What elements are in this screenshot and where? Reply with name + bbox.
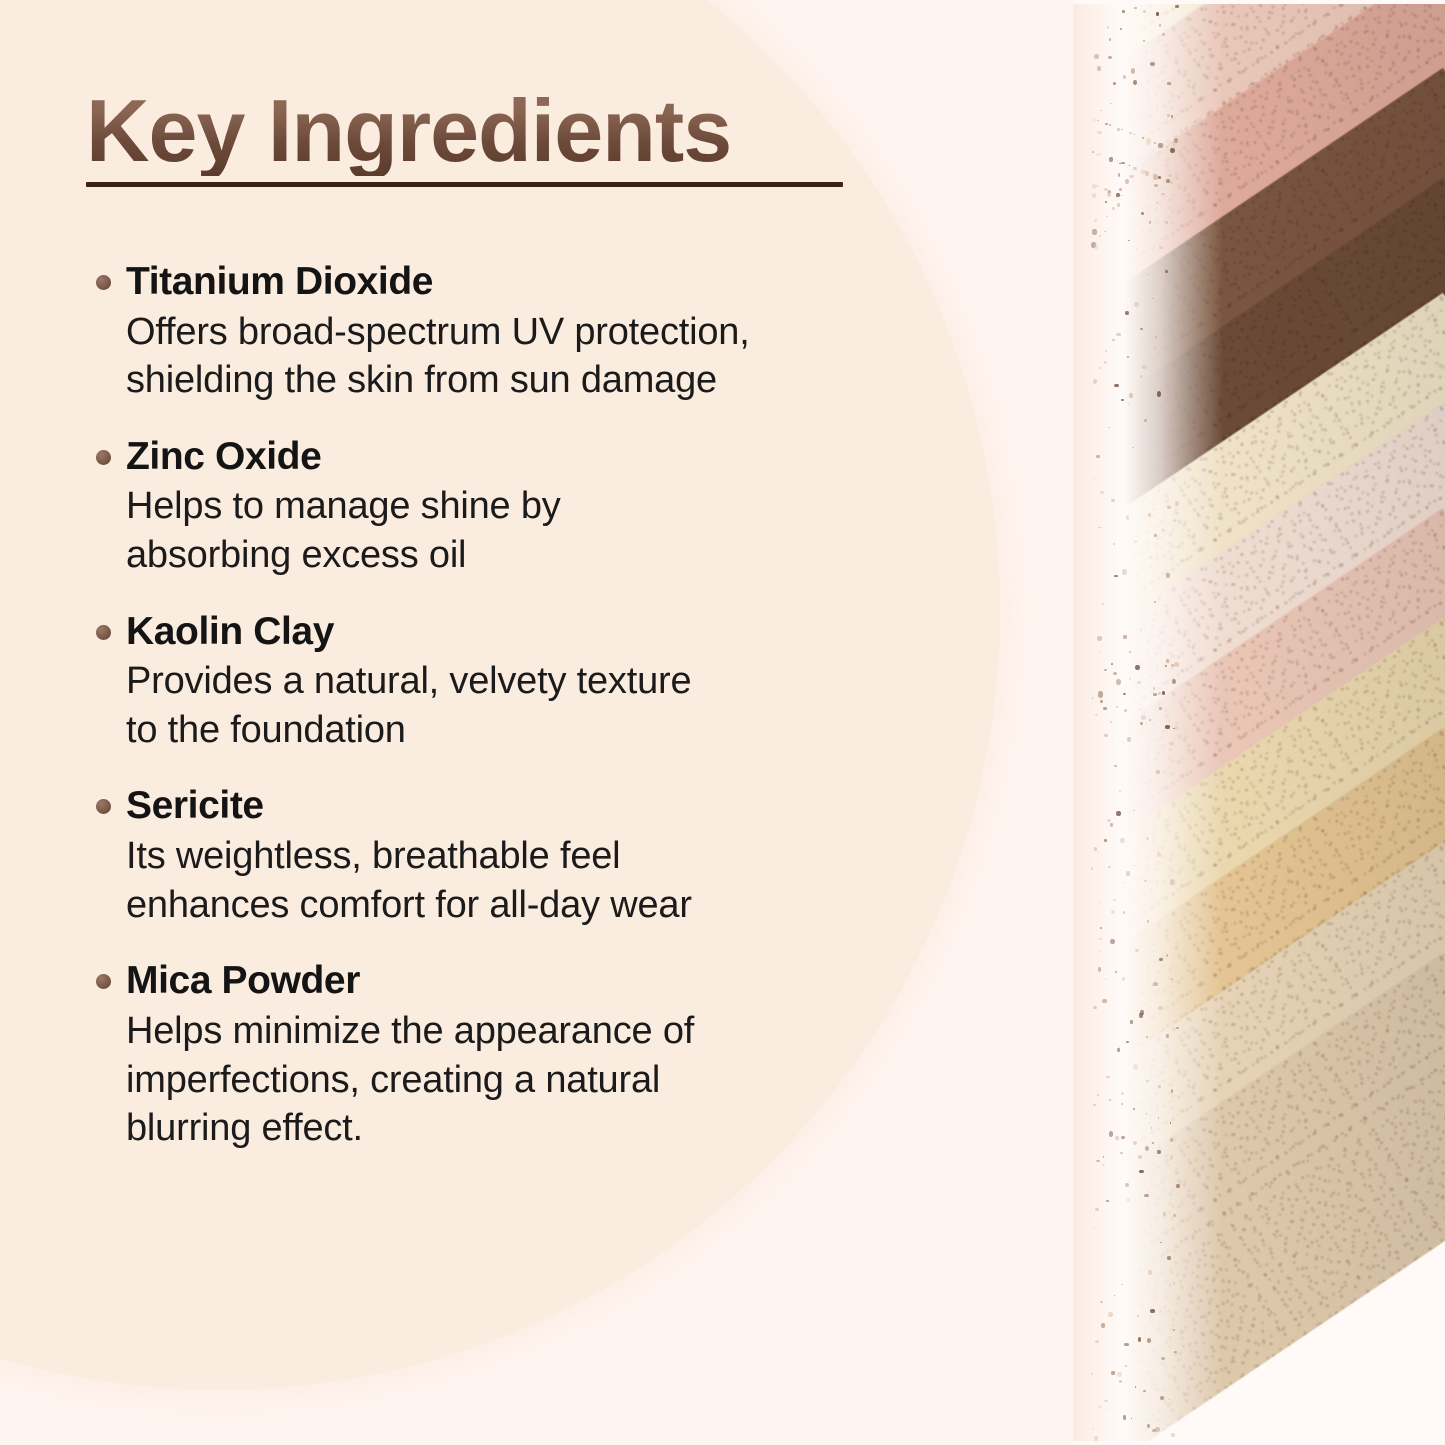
powder-speck <box>1167 1256 1171 1260</box>
powder-speck <box>1171 1433 1174 1436</box>
page-title: Key Ingredients <box>86 86 986 176</box>
powder-speck <box>1149 221 1151 223</box>
powder-speck <box>1157 1166 1159 1168</box>
list-item: Zinc Oxide Helps to manage shine by abso… <box>86 433 1006 580</box>
powder-speck <box>1173 1214 1176 1217</box>
powder-speck <box>1143 1390 1145 1392</box>
powder-speck <box>1167 82 1171 84</box>
powder-speck <box>1126 871 1130 876</box>
powder-speck <box>1122 569 1127 575</box>
title-underline <box>86 182 843 187</box>
powder-speck <box>1158 1006 1162 1010</box>
powder-speck <box>1144 1194 1149 1197</box>
powder-speck <box>1171 978 1173 980</box>
powder-speck <box>1173 519 1175 522</box>
bullet-dot-icon <box>96 275 111 290</box>
powder-speck <box>1136 249 1137 250</box>
ingredient-name: Zinc Oxide <box>126 433 1006 481</box>
powder-speck <box>1170 1138 1173 1142</box>
powder-speck <box>1129 393 1133 398</box>
powder-speck <box>1150 62 1155 66</box>
powder-speck <box>1154 534 1157 537</box>
bullet-dot-icon <box>96 625 111 640</box>
powder-speck <box>1162 33 1164 36</box>
ingredient-description: Provides a natural, velvety texture to t… <box>126 657 1006 754</box>
powder-speck <box>1156 12 1159 15</box>
powder-speck <box>1130 1020 1134 1023</box>
powder-speck <box>1120 838 1124 843</box>
powder-speck <box>1158 692 1160 695</box>
powder-speck <box>1146 1036 1148 1038</box>
powder-speck <box>1167 506 1171 509</box>
powder-speck <box>1127 737 1131 742</box>
powder-speck <box>1174 138 1178 143</box>
powder-speck <box>1159 707 1162 710</box>
powder-speck <box>1120 195 1122 196</box>
powder-speck <box>1153 693 1157 696</box>
list-item: Sericite Its weightless, breathable feel… <box>86 782 1006 929</box>
powder-speck <box>1140 722 1143 725</box>
powder-speck <box>1166 573 1170 578</box>
powder-speck <box>1124 709 1126 712</box>
powder-speck <box>1131 68 1135 73</box>
powder-speck <box>1165 725 1169 729</box>
powder-speck <box>1127 1198 1131 1202</box>
powder-speck <box>1156 770 1160 774</box>
powder-speck <box>1158 176 1161 179</box>
powder-speck <box>1167 114 1170 117</box>
powder-speck <box>1135 665 1140 670</box>
key-ingredients-infographic: Key Ingredients Titanium Dioxide Offers … <box>0 0 1445 1445</box>
ingredient-description: Helps minimize the appearance of imperfe… <box>126 1007 1006 1153</box>
powder-speck <box>1153 347 1157 350</box>
powder-speck <box>1134 134 1135 135</box>
powder-speck <box>1139 709 1140 710</box>
powder-speck <box>1131 1418 1132 1419</box>
powder-speck <box>1165 665 1166 666</box>
powder-speck <box>1170 1155 1174 1160</box>
powder-speck <box>1160 1396 1165 1400</box>
list-item: Titanium Dioxide Offers broad-spectrum U… <box>86 258 1006 405</box>
powder-speck <box>1143 10 1146 13</box>
powder-speck <box>1137 681 1141 684</box>
list-item: Kaolin Clay Provides a natural, velvety … <box>86 608 1006 755</box>
powder-speck <box>1123 911 1125 914</box>
powder-speck <box>1122 977 1125 981</box>
powder-speck <box>1125 311 1129 315</box>
powder-speck <box>1137 1315 1139 1317</box>
powder-speck <box>1172 679 1176 684</box>
powder-speck <box>1152 298 1154 299</box>
powder-speck <box>1140 1010 1143 1014</box>
powder-speck <box>1162 691 1165 695</box>
powder-speck <box>1142 365 1147 370</box>
powder-speck <box>1170 824 1171 825</box>
powder-speck <box>1138 1337 1141 1341</box>
powder-bottom-edge <box>1073 1441 1445 1445</box>
powder-speck <box>1148 513 1151 517</box>
powder-speck <box>1170 181 1173 185</box>
powder-speck <box>1171 115 1173 118</box>
powder-speck <box>1123 75 1126 79</box>
powder-speck <box>1169 742 1174 745</box>
powder-speck <box>1152 1142 1154 1144</box>
list-item: Mica Powder Helps minimize the appearanc… <box>86 957 1006 1152</box>
powder-speck <box>1133 810 1135 811</box>
powder-speck <box>1166 146 1168 148</box>
powder-speck <box>1123 635 1126 639</box>
powder-top-edge <box>1073 0 1445 4</box>
powder-speck <box>1134 302 1139 307</box>
powder-speck <box>1121 129 1122 130</box>
powder-speck <box>1121 399 1123 401</box>
powder-speck <box>1129 651 1131 653</box>
powder-speck <box>1140 328 1143 330</box>
ingredient-name: Titanium Dioxide <box>126 258 1006 306</box>
powder-speck <box>1152 1429 1156 1432</box>
powder-speck <box>1120 1152 1123 1154</box>
bullet-dot-icon <box>96 799 111 814</box>
powder-speck <box>1158 143 1163 147</box>
powder-speck <box>1176 1184 1180 1188</box>
powder-speck <box>1163 1212 1166 1216</box>
powder-speck <box>1166 659 1169 662</box>
powder-speck <box>1160 1310 1161 1311</box>
powder-speck <box>1165 270 1168 273</box>
powder-speck <box>1159 246 1162 250</box>
powder-speck <box>1165 221 1168 223</box>
powder-speck <box>1129 132 1132 134</box>
powder-speck <box>1141 715 1146 720</box>
powder-speck <box>1134 7 1136 9</box>
ingredient-name: Kaolin Clay <box>126 608 1006 656</box>
powder-speck <box>1175 5 1178 8</box>
powder-speck <box>1175 501 1179 506</box>
bullet-dot-icon <box>96 450 111 465</box>
powder-speck <box>1119 1380 1122 1383</box>
ingredient-name: Sericite <box>126 782 1006 830</box>
powder-speck <box>1132 447 1134 448</box>
powder-speck <box>1158 1085 1161 1088</box>
powder-speck <box>1170 879 1175 885</box>
powder-swatch-image <box>1073 0 1445 1445</box>
title-block: Key Ingredients <box>86 86 986 187</box>
ingredient-name: Mica Powder <box>126 957 1006 1005</box>
powder-speck <box>1174 662 1179 666</box>
ingredient-description: Offers broad-spectrum UV protection, shi… <box>126 308 1006 405</box>
powder-speck <box>1166 954 1168 956</box>
powder-speck <box>1133 167 1137 171</box>
powder-speck <box>1149 719 1151 721</box>
powder-speck <box>1143 40 1145 41</box>
powder-speck <box>1170 148 1174 154</box>
powder-speck <box>1176 1027 1179 1029</box>
powder-speck <box>1148 1270 1152 1274</box>
powder-speck <box>1124 1343 1129 1346</box>
powder-speck <box>1154 184 1158 187</box>
powder-speck <box>1157 852 1161 857</box>
powder-speck <box>1129 175 1134 179</box>
powder-speck <box>1173 1329 1174 1331</box>
powder-speck <box>1146 138 1151 145</box>
powder-edge-shadow <box>1073 0 1119 1445</box>
bullet-dot-icon <box>96 974 111 989</box>
powder-speck <box>1166 407 1169 409</box>
ingredient-description: Helps to manage shine by absorbing exces… <box>126 482 1006 579</box>
ingredient-description: Its weightless, breathable feel enhances… <box>126 832 1006 929</box>
powder-speck <box>1121 1284 1123 1286</box>
powder-speck <box>1145 171 1148 176</box>
powder-speck <box>1147 920 1149 922</box>
ingredient-list: Titanium Dioxide Offers broad-spectrum U… <box>86 258 1006 1153</box>
powder-speck <box>1159 958 1163 961</box>
powder-speck <box>1120 28 1122 30</box>
powder-speck <box>1173 1282 1176 1285</box>
powder-speck <box>1128 403 1129 404</box>
powder-speck <box>1125 179 1129 184</box>
powder-speck <box>1125 1183 1128 1187</box>
powder-speck <box>1140 375 1142 378</box>
